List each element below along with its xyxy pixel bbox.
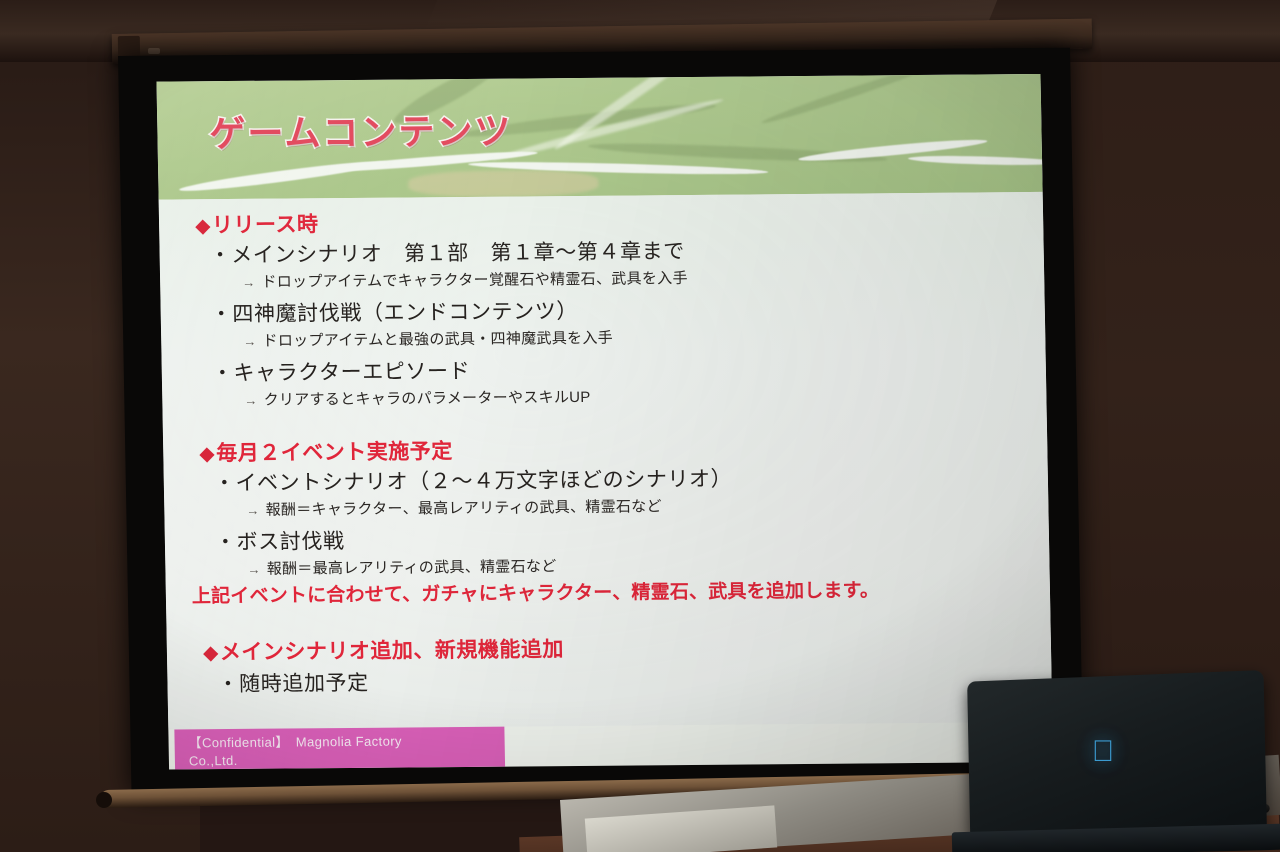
bullet-dot: ・ — [217, 673, 239, 696]
room-scene: ゲームコンテンツ ◆リリース時 ・メインシナリオ 第１部 第１章～第４章まで →… — [0, 0, 1280, 852]
bullet-dot: ・ — [209, 244, 231, 267]
bullet-dot: ・ — [212, 362, 234, 385]
sub-list-item-text: ドロップアイテムと最強の武具・四神魔武具を入手 — [262, 330, 613, 350]
wave-swash — [908, 154, 1043, 166]
diamond-icon: ◆ — [199, 443, 215, 465]
section-heading-text: 毎月２イベント実施予定 — [216, 440, 453, 465]
sub-list-item-text: クリアするとキャラのパラメーターやスキルUP — [263, 389, 590, 409]
bullet-dot: ・ — [215, 531, 237, 554]
slide-header-band: ゲームコンテンツ — [156, 74, 1042, 200]
slide-body: ◆リリース時 ・メインシナリオ 第１部 第１章～第４章まで →ドロップアイテムで… — [159, 192, 1053, 730]
list-item: ・ボス討伐戦 — [201, 518, 1053, 556]
list-item-text: ボス討伐戦 — [236, 530, 344, 554]
slide-title: ゲームコンテンツ — [209, 103, 513, 158]
confidential-footer-band: 【Confidential】 Magnolia Factory Co.,Ltd. — [174, 727, 505, 770]
list-item: ・随時追加予定 — [203, 660, 1053, 698]
section-heading-text: リリース時 — [212, 213, 319, 237]
bullet-dot: ・ — [214, 472, 236, 495]
section-heading-main-scenario-additions: ◆メインシナリオ追加、新規機能追加 — [203, 629, 1053, 667]
diamond-icon: ◆ — [203, 642, 219, 664]
list-item-text: 四神魔討伐戦（エンドコンテンツ） — [232, 300, 578, 326]
bullet-dot: ・ — [211, 303, 233, 326]
screen-housing-label — [148, 48, 160, 54]
arrow-icon: → — [244, 393, 258, 408]
list-item-text: 随時追加予定 — [239, 672, 369, 696]
sub-list-item-text: ドロップアイテムでキャラクター覚醒石や精霊石、武具を入手 — [261, 270, 688, 291]
presentation-slide: ゲームコンテンツ ◆リリース時 ・メインシナリオ 第１部 第１章～第４章まで →… — [156, 74, 1053, 770]
arrow-icon: → — [243, 334, 257, 349]
projection-screen: ゲームコンテンツ ◆リリース時 ・メインシナリオ 第１部 第１章～第４章まで →… — [118, 48, 1084, 794]
sub-list-item-text: 報酬＝キャラクター、最高レアリティの武具、精霊石など — [266, 498, 662, 518]
section-heading-text: メインシナリオ追加、新規機能追加 — [220, 638, 564, 664]
confidential-footer-text: 【Confidential】 Magnolia Factory Co.,Ltd. — [188, 732, 505, 770]
confidential-line-2: Co.,Ltd. — [189, 750, 505, 770]
list-item-text: イベントシナリオ（２～４万文字ほどのシナリオ） — [235, 468, 732, 495]
list-item: ・四神魔討伐戦（エンドコンテンツ） — [196, 290, 1053, 328]
diamond-icon: ◆ — [195, 215, 211, 237]
macbook-lid — [967, 670, 1267, 836]
apple-logo-icon:  — [1090, 737, 1116, 767]
header-brushstroke — [760, 74, 933, 127]
sub-list-item-text: 報酬＝最高レアリティの武具、精霊石など — [267, 558, 557, 578]
list-item-text: キャラクターエピソード — [233, 360, 470, 385]
wave-swash — [468, 160, 768, 177]
list-item-text: メインシナリオ 第１部 第１章～第４章まで — [231, 240, 685, 267]
section-note-gacha: 上記イベントに合わせて、ガチャにキャラクター、精霊石、武具を追加します。 — [192, 574, 1053, 609]
arrow-icon: → — [246, 503, 260, 518]
arrow-icon: → — [242, 275, 256, 290]
list-item: ・キャラクターエピソード — [198, 349, 1054, 387]
arrow-icon: → — [247, 562, 261, 577]
